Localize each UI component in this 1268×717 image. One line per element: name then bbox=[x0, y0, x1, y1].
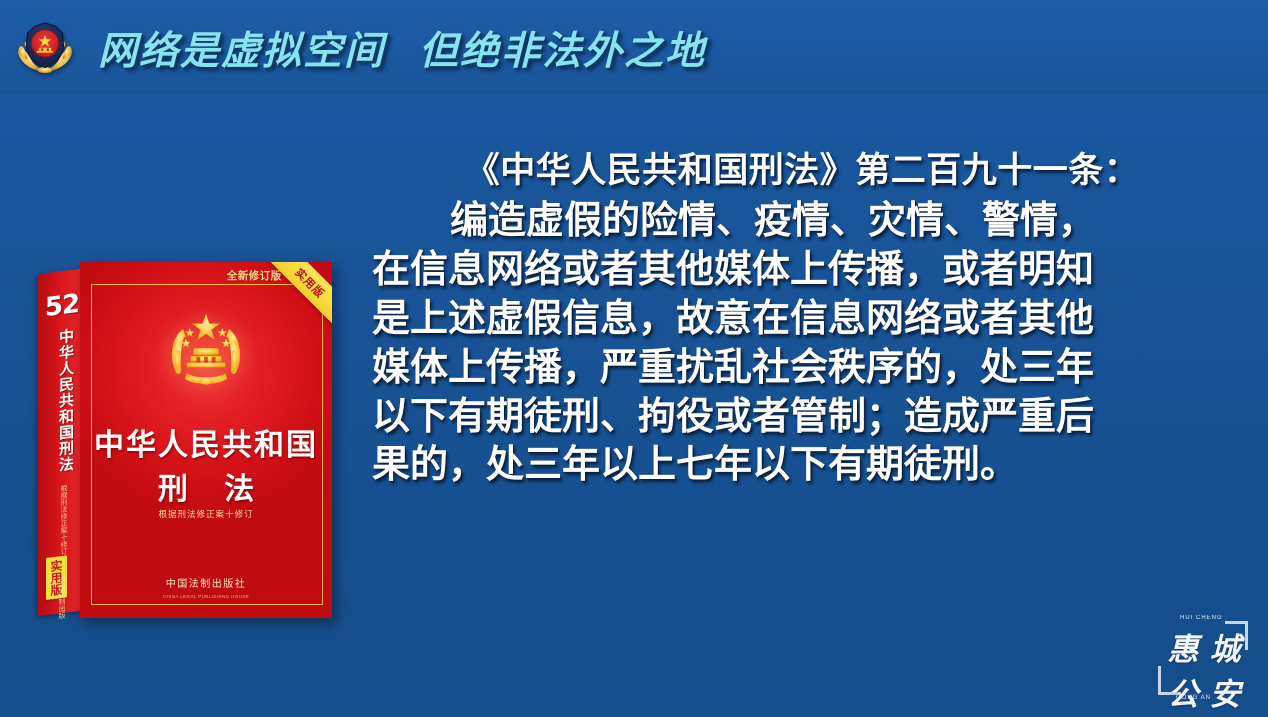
law-line: 以下有期徒刑、拘役或者管制；造成严重后 bbox=[372, 393, 1232, 442]
law-text-block: 《中华人民共和国刑法》第二百九十一条： 编造虚假的险情、疫情、灾情、警情， 在信… bbox=[372, 150, 1232, 490]
law-line: 媒体上传播，严重扰乱社会秩序的，处三年 bbox=[372, 344, 1232, 393]
watermark-char: 城 bbox=[1204, 624, 1246, 669]
book-front-cover: 全新修订版 · 刑 法 实用版 bbox=[80, 262, 332, 618]
watermark-characters: 惠 城 公 安 bbox=[1162, 624, 1246, 692]
cover-title-line-2: 刑 法 bbox=[80, 464, 332, 508]
watermark-pinyin-top: HUI CHENG bbox=[1180, 615, 1223, 621]
law-article-title: 《中华人民共和国刑法》第二百九十一条： bbox=[372, 150, 1232, 191]
watermark-char: 安 bbox=[1204, 669, 1246, 714]
china-national-emblem-icon bbox=[80, 302, 332, 402]
header-slogan: 网络是虚拟空间但绝非法外之地 bbox=[98, 20, 706, 76]
police-badge-icon bbox=[14, 18, 76, 80]
criminal-law-book-image: 52 中华人民共和国刑法 根据刑法修正案十修订 实用版 中国法制出版社 全新修订… bbox=[38, 260, 338, 620]
cover-publisher-en: CHINA LEGAL PUBLISHING HOUSE bbox=[80, 594, 332, 599]
law-article-body: 编造虚假的险情、疫情、灾情、警情， 在信息网络或者其他媒体上传播，或者明知 是上… bbox=[372, 197, 1232, 490]
law-line: 编造虚假的险情、疫情、灾情、警情， bbox=[372, 197, 1232, 246]
watermark-char: 公 bbox=[1162, 669, 1204, 714]
law-line: 果的，处三年以上七年以下有期徒刑。 bbox=[372, 441, 1232, 490]
cover-note: 根据刑法修正案十修订 bbox=[80, 508, 332, 520]
book-spine: 52 中华人民共和国刑法 根据刑法修正案十修订 实用版 中国法制出版社 bbox=[38, 269, 82, 616]
law-line: 在信息网络或者其他媒体上传播，或者明知 bbox=[372, 246, 1232, 295]
slogan-part-1: 网络是虚拟空间 bbox=[98, 29, 385, 74]
cover-title-line-1: 中华人民共和国 bbox=[80, 420, 332, 464]
book-spine-subtitle: 根据刑法修正案十修订 bbox=[54, 484, 67, 558]
cover-publisher: 中国法制出版社 bbox=[80, 575, 332, 590]
book-spine-publisher: 中国法制出版社 bbox=[55, 577, 66, 622]
watermark-char: 惠 bbox=[1162, 624, 1204, 669]
slide-canvas: 网络是虚拟空间但绝非法外之地 52 中华人民共和国刑法 根据刑法修正案十修订 实… bbox=[0, 0, 1268, 717]
slogan-part-2: 但绝非法外之地 bbox=[419, 29, 706, 74]
watermark-pinyin-bottom: GONG AN bbox=[1176, 695, 1211, 701]
law-line: 是上述虚假信息，故意在信息网络或者其他 bbox=[372, 295, 1232, 344]
header-banner: 网络是虚拟空间但绝非法外之地 bbox=[0, 0, 1268, 95]
huicheng-police-watermark: HUI CHENG 惠 城 公 安 GONG AN bbox=[1150, 607, 1254, 705]
book-spine-number: 52 bbox=[42, 289, 82, 324]
